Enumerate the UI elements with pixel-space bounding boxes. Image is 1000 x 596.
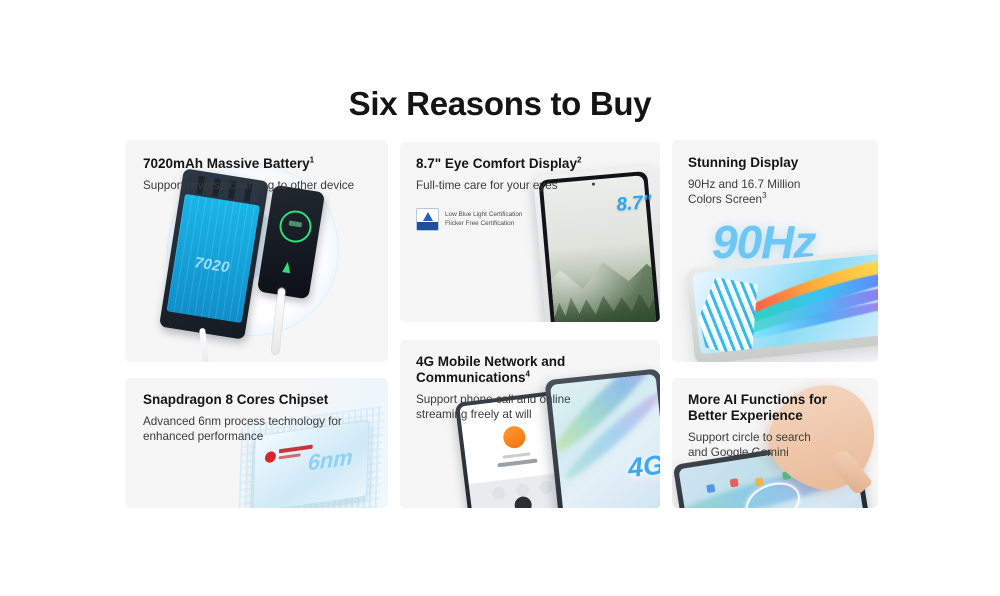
- card-title: Snapdragon 8 Cores Chipset: [143, 392, 342, 408]
- process-node-label: 6nm: [307, 444, 353, 477]
- certification-text: Low Blue Light Certification Flicker Fre…: [445, 211, 522, 228]
- card-title: 7020mAh Massive Battery1: [143, 156, 354, 172]
- card-title: More AI Functions for Better Experience: [688, 392, 827, 424]
- feature-card-network[interactable]: 4G 4G Mobile Network and Communications4…: [400, 340, 660, 508]
- card-subtitle: Support reverse charging to other device: [143, 178, 354, 193]
- footnote-marker: 2: [577, 156, 581, 165]
- feature-card-chipset[interactable]: 6nm Snapdragon 8 Cores Chipset Advanced …: [125, 378, 388, 508]
- network-headline: 4G: [627, 450, 660, 485]
- card-subtitle: 90Hz and 16.7 Million Colors Screen3: [688, 177, 800, 207]
- card-title: Stunning Display: [688, 155, 800, 171]
- feature-card-stunning-display[interactable]: 90Hz Stunning Display 90Hz and 16.7 Mill…: [672, 140, 878, 362]
- card-subtitle: Support phone call and online streaming …: [416, 392, 571, 422]
- card-subtitle: Support circle to search and Google Gemi…: [688, 430, 827, 460]
- footnote-marker: 1: [310, 156, 314, 165]
- card-subtitle: Advanced 6nm process technology for enha…: [143, 414, 342, 444]
- page-title: Six Reasons to Buy: [0, 85, 1000, 123]
- tuv-certification-icon: [416, 208, 439, 231]
- caller-avatar: [502, 425, 527, 450]
- feature-card-ai[interactable]: More AI Functions for Better Experience …: [672, 378, 878, 508]
- card-title: 4G Mobile Network and Communications4: [416, 354, 571, 386]
- footnote-marker: 4: [526, 370, 530, 379]
- feature-card-battery[interactable]: 7020 7020mAh Massive Battery1 Support re…: [125, 140, 388, 362]
- battery-capacity-label: 7020: [173, 251, 251, 280]
- footnote-marker: 3: [762, 191, 766, 200]
- snapdragon-logo-icon: [265, 451, 276, 464]
- card-title: 8.7" Eye Comfort Display2: [416, 156, 581, 172]
- screen-size-label: 8.7": [616, 192, 653, 217]
- certification-badge: Low Blue Light Certification Flicker Fre…: [416, 208, 522, 231]
- motion-trail-icon: [695, 273, 765, 354]
- card-subtitle: Full-time care for your eyes: [416, 178, 581, 193]
- end-call-button[interactable]: [514, 496, 533, 508]
- feature-card-display[interactable]: 8.7" Low Blue Light Certification Flicke…: [400, 142, 660, 322]
